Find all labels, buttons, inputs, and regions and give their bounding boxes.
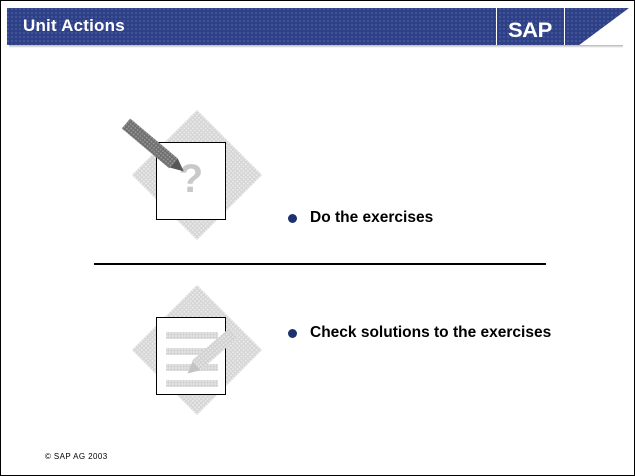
- content-row-2: Check solutions to the exercises: [1, 286, 634, 416]
- bullet-dot-icon: [288, 329, 297, 338]
- header-shadow: [9, 45, 623, 48]
- copyright-footer: © SAP AG 2003: [45, 452, 108, 461]
- bullet-item-1: Do the exercises: [288, 209, 433, 227]
- page-title: Unit Actions: [23, 16, 125, 36]
- bullet-item-2: Check solutions to the exercises: [288, 324, 551, 342]
- sap-logo: SAP: [508, 19, 552, 43]
- section-divider: [94, 263, 546, 265]
- slide-header: Unit Actions SAP: [7, 8, 629, 45]
- bullet-dot-icon: [288, 214, 297, 223]
- document-text-line: [166, 332, 218, 339]
- question-document-pencil-icon: ?: [131, 111, 251, 239]
- document-text-line: [166, 380, 218, 387]
- bullet-item-label: Check solutions to the exercises: [310, 324, 551, 342]
- slide-canvas: Unit Actions SAP ? Do the exercises: [0, 0, 635, 476]
- header-separator-left: [496, 8, 497, 45]
- content-row-1: ? Do the exercises: [1, 111, 634, 241]
- lined-document-pencil-icon: [131, 286, 251, 414]
- bullet-item-label: Do the exercises: [310, 209, 433, 227]
- header-separator-right: [564, 8, 565, 45]
